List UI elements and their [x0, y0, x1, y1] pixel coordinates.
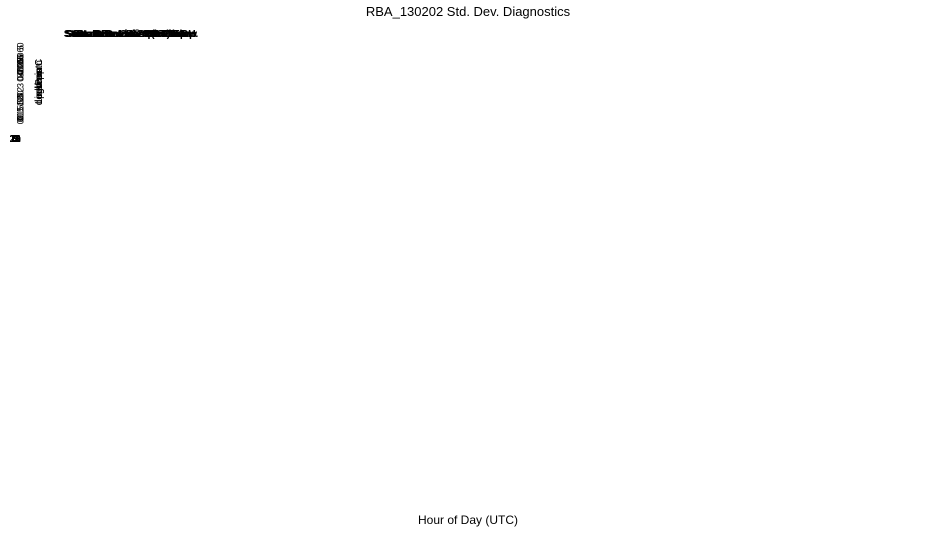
diagnostics-figure: RBA_130202 Std. Dev. Diagnostics Hour of…	[0, 0, 936, 540]
plot-canvas	[0, 0, 936, 540]
